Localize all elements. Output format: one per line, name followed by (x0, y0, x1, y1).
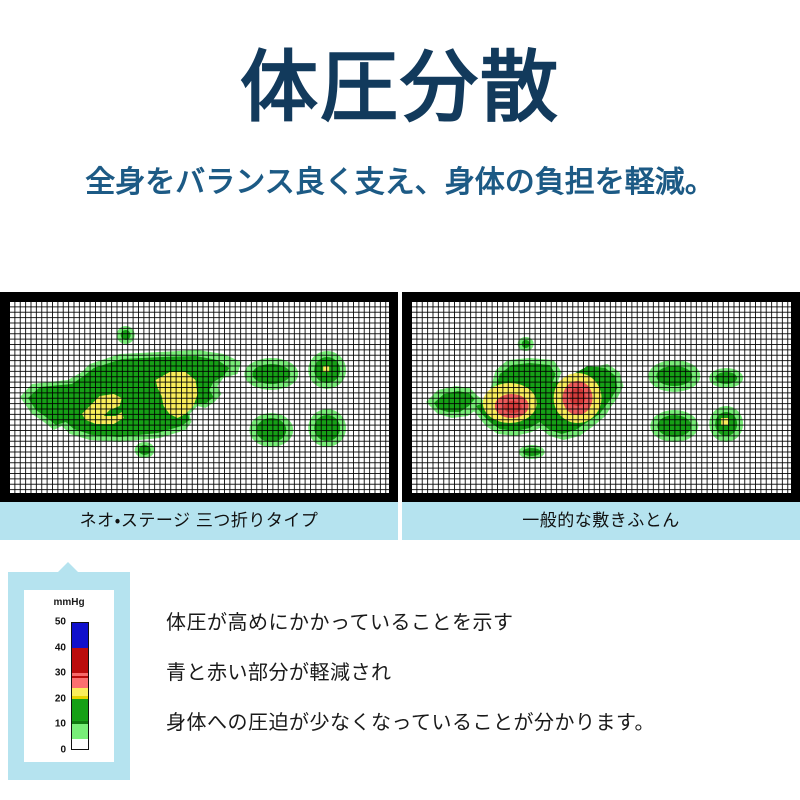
legend-color-bar (71, 622, 89, 750)
pressure-panel-neo-stage: ネオ・ステージ 三つ折りタイプ (0, 292, 398, 540)
legend-box: mmHg 50403020100 (8, 572, 130, 780)
legend-band-40-50 (72, 623, 88, 648)
explanation-notes: 体圧が高めにかかっていることを示す 青と赤い部分が軽減され 身体への圧迫が少なく… (166, 612, 786, 734)
pressure-map-canvas-right (412, 302, 791, 493)
panel-caption-standard-futon: 一般的な敷きふとん (402, 502, 800, 540)
page-subtitle: 全身をバランス良く支え、身体の負担を軽減。 (0, 165, 800, 201)
pressure-panel-standard-futon: 一般的な敷きふとん (402, 292, 800, 540)
pressure-map-frame-right (402, 292, 800, 502)
header: 体圧分散 全身をバランス良く支え、身体の負担を軽減。 (0, 0, 800, 292)
legend-tick-30: 30 (55, 668, 66, 679)
pressure-map-canvas-left (10, 302, 389, 493)
pressure-map-frame-left (0, 292, 398, 502)
legend-colorbar: mmHg 50403020100 (8, 572, 130, 780)
legend-band-11-20 (72, 699, 88, 722)
page-title: 体圧分散 (0, 48, 800, 126)
legend-band-4-10 (72, 724, 88, 739)
legend-band-24-28 (72, 678, 88, 688)
legend-tick-40: 40 (55, 642, 66, 653)
comparison-panels: ネオ・ステージ 三つ折りタイプ (0, 292, 800, 540)
heatmap-right (412, 302, 791, 493)
note-line-1: 体圧が高めにかかっていることを示す (166, 612, 786, 634)
legend-band-0-4 (72, 739, 88, 749)
legend-tick-labels: 50403020100 (32, 622, 68, 750)
note-line-2: 青と赤い部分が軽減され (166, 662, 786, 684)
legend-band-21-24 (72, 688, 88, 696)
legend-tick-20: 20 (55, 693, 66, 704)
note-line-3: 身体への圧迫が少なくなっていることが分かります。 (166, 712, 786, 734)
legend-band-30-40 (72, 648, 88, 673)
heatmap-left (10, 302, 389, 493)
legend-card: mmHg 50403020100 (24, 590, 114, 762)
legend-tick-0: 0 (60, 745, 66, 756)
panel-caption-neo-stage: ネオ・ステージ 三つ折りタイプ (0, 502, 398, 540)
legend-tick-10: 10 (55, 719, 66, 730)
legend-tick-50: 50 (55, 617, 66, 628)
legend-unit-label: mmHg (24, 597, 114, 608)
